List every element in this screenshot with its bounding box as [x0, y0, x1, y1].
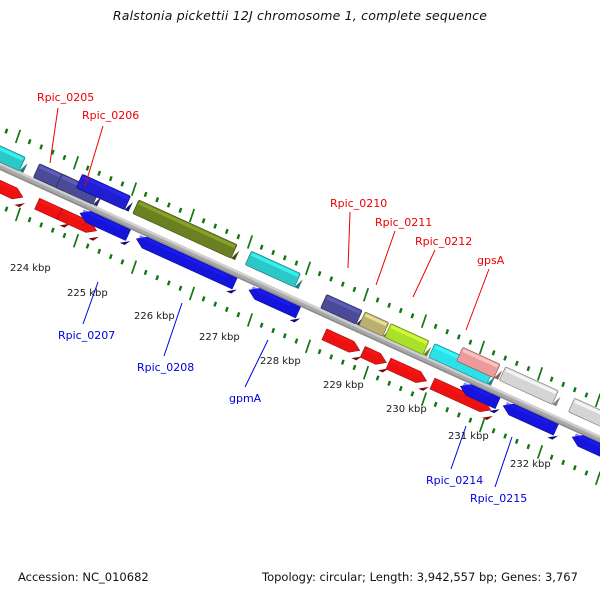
axis-tick-major [364, 288, 369, 301]
axis-tick-minor [238, 234, 240, 239]
label-leader-line [50, 108, 58, 163]
axis-tick-minor [551, 377, 553, 382]
axis-tick-minor [330, 355, 332, 360]
axis-tick-minor [98, 249, 100, 254]
axis-tick-minor [145, 192, 147, 197]
axis-tick-minor [40, 223, 42, 228]
label-rpic-0208[interactable]: Rpic_0208 [137, 361, 194, 374]
axis-tick-label: 228 kbp [260, 356, 301, 367]
axis-tick-minor [354, 365, 356, 370]
axis-tick-label: 231 kbp [448, 431, 489, 442]
axis-tick-minor [516, 361, 518, 366]
axis-tick-label: 225 kbp [67, 288, 108, 299]
axis-tick-minor [64, 233, 66, 238]
axis-tick-minor [29, 217, 31, 222]
axis-tick-major [74, 234, 79, 247]
axis-tick-major [16, 130, 21, 143]
label-rpic-0205[interactable]: Rpic_0205 [37, 91, 94, 104]
label-leader-line [413, 250, 435, 297]
axis-tick-minor [40, 145, 42, 150]
label-rpic-0210[interactable]: Rpic_0210 [330, 197, 387, 210]
axis-tick-minor [168, 281, 170, 286]
genome-map-viewer: Ralstonia pickettii 12J chromosome 1, co… [0, 0, 600, 600]
axis-tick-minor [388, 303, 390, 308]
label-gpsa[interactable]: gpsA [477, 254, 504, 267]
axis-tick-minor [156, 275, 158, 280]
axis-tick-minor [6, 129, 8, 134]
axis-tick-minor [284, 333, 286, 338]
axis-tick-minor [214, 224, 216, 229]
axis-tick-label: 229 kbp [323, 380, 364, 391]
axis-tick-minor [203, 297, 205, 302]
axis-tick-major [132, 183, 137, 196]
genome-map-canvas [0, 0, 600, 600]
axis-tick-minor [272, 328, 274, 333]
label-leader-line [376, 231, 395, 285]
axis-tick-minor [168, 203, 170, 208]
axis-tick-minor [516, 439, 518, 444]
axis-tick-major [190, 209, 195, 222]
axis-tick-minor [29, 139, 31, 144]
axis-tick-minor [6, 207, 8, 212]
axis-tick-minor [528, 444, 530, 449]
axis-tick-minor [562, 382, 564, 387]
axis-tick-minor [377, 298, 379, 303]
axis-tick-major [538, 445, 543, 458]
label-leader-line [348, 212, 350, 268]
axis-tick-major [16, 208, 21, 221]
axis-tick-minor [122, 260, 124, 265]
axis-tick-minor [238, 312, 240, 317]
axis-tick-minor [504, 434, 506, 439]
axis-tick-major [364, 366, 369, 379]
axis-tick-minor [296, 261, 298, 266]
axis-tick-minor [435, 324, 437, 329]
axis-tick-major [596, 472, 600, 485]
axis-tick-major [306, 340, 311, 353]
axis-tick-major [190, 287, 195, 300]
axis-tick-minor [354, 287, 356, 292]
axis-tick-minor [470, 418, 472, 423]
axis-tick-major [422, 315, 427, 328]
axis-tick-minor [87, 166, 89, 171]
axis-tick-major [74, 156, 79, 169]
axis-tick-minor [226, 307, 228, 312]
axis-tick-minor [458, 413, 460, 418]
axis-tick-minor [98, 171, 100, 176]
label-gpma[interactable]: gpmA [229, 392, 261, 405]
label-rpic-0215[interactable]: Rpic_0215 [470, 492, 527, 505]
axis-tick-minor [226, 229, 228, 234]
axis-tick-minor [504, 356, 506, 361]
axis-tick-minor [64, 155, 66, 160]
axis-tick-minor [319, 349, 321, 354]
axis-tick-minor [110, 176, 112, 181]
label-rpic-0206[interactable]: Rpic_0206 [82, 109, 139, 122]
axis-tick-minor [470, 340, 472, 345]
label-leader-line [85, 126, 103, 186]
axis-tick-major [248, 235, 253, 248]
axis-tick-minor [435, 402, 437, 407]
axis-tick-label: 230 kbp [386, 404, 427, 415]
axis-tick-minor [528, 366, 530, 371]
axis-tick-minor [52, 228, 54, 233]
label-rpic-0214[interactable]: Rpic_0214 [426, 474, 483, 487]
axis-tick-minor [574, 465, 576, 470]
axis-tick-minor [388, 381, 390, 386]
axis-tick-minor [586, 471, 588, 476]
axis-tick-minor [214, 302, 216, 307]
footer-bar: Accession: NC_010682 Topology: circular;… [0, 570, 600, 590]
axis-tick-minor [342, 282, 344, 287]
axis-tick-minor [493, 351, 495, 356]
axis-tick-minor [203, 219, 205, 224]
axis-tick-major [538, 367, 543, 380]
axis-tick-minor [551, 455, 553, 460]
axis-tick-major [306, 262, 311, 275]
axis-tick-minor [122, 182, 124, 187]
axis-tick-minor [574, 387, 576, 392]
axis-tick-major [132, 261, 137, 274]
axis-tick-label: 227 kbp [199, 332, 240, 343]
axis-tick-minor [284, 255, 286, 260]
axis-tick-minor [261, 245, 263, 250]
forward-strand-arrow[interactable] [320, 329, 366, 362]
axis-tick-minor [272, 250, 274, 255]
axis-tick-minor [412, 392, 414, 397]
axis-tick-minor [377, 376, 379, 381]
axis-tick-minor [330, 277, 332, 282]
axis-tick-label: 224 kbp [10, 263, 51, 274]
label-leader-line [466, 269, 489, 330]
axis-tick-minor [400, 308, 402, 313]
axis-tick-minor [458, 335, 460, 340]
axis-tick-major [480, 341, 485, 354]
axis-tick-label: 232 kbp [510, 459, 551, 470]
axis-tick-minor [180, 286, 182, 291]
label-rpic-0207[interactable]: Rpic_0207 [58, 329, 115, 342]
axis-tick-minor [261, 323, 263, 328]
axis-tick-major [248, 313, 253, 326]
axis-tick-minor [296, 339, 298, 344]
axis-tick-label: 226 kbp [134, 311, 175, 322]
axis-tick-minor [156, 197, 158, 202]
axis-tick-minor [180, 208, 182, 213]
axis-tick-minor [400, 386, 402, 391]
accession-text: Accession: NC_010682 [18, 570, 149, 584]
axis-tick-minor [110, 254, 112, 259]
axis-tick-minor [446, 407, 448, 412]
axis-tick-minor [319, 271, 321, 276]
axis-tick-minor [446, 329, 448, 334]
axis-tick-minor [342, 360, 344, 365]
topology-stats-text: Topology: circular; Length: 3,942,557 bp… [262, 570, 578, 584]
axis-tick-minor [562, 460, 564, 465]
label-rpic-0211[interactable]: Rpic_0211 [375, 216, 432, 229]
axis-tick-minor [586, 393, 588, 398]
axis-tick-minor [493, 429, 495, 434]
axis-tick-minor [412, 314, 414, 319]
axis-tick-major [596, 394, 600, 407]
label-rpic-0212[interactable]: Rpic_0212 [415, 235, 472, 248]
axis-tick-minor [145, 270, 147, 275]
axis-tick-minor [87, 244, 89, 249]
